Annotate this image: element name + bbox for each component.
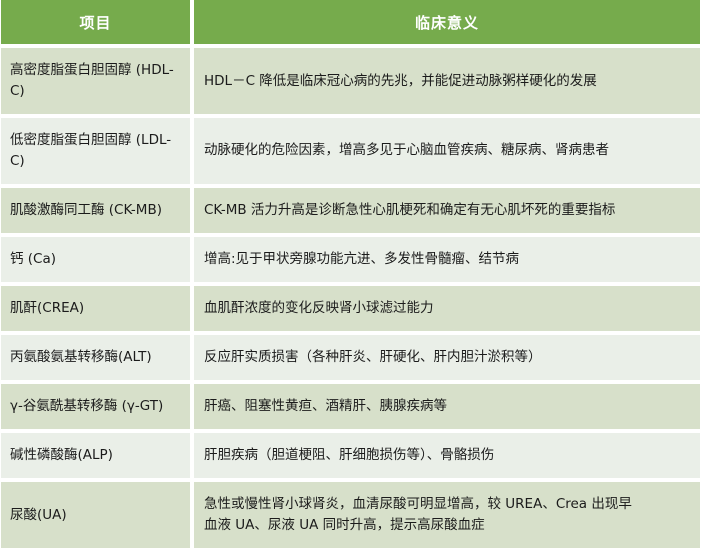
cell-meaning: CK-MB 活力升高是诊断急性心肌梗死和确定有无心肌坏死的重要指标 (194, 188, 700, 233)
cell-item-text: γ-谷氨酰基转移酶 (γ-GT) (10, 396, 163, 417)
table-row: 低密度脂蛋白胆固醇 (LDL-C) 动脉硬化的危险因素，增高多见于心脑血管疾病、… (0, 118, 702, 184)
cell-item-text: 肌酐(CREA) (10, 298, 84, 319)
cell-item-text: 钙 (Ca) (10, 249, 56, 270)
cell-meaning: 反应肝实质损害（各种肝炎、肝硬化、肝内胆汁淤积等） (194, 335, 700, 380)
cell-meaning-text: 增高:见于甲状旁腺功能亢进、多发性骨髓瘤、结节病 (204, 249, 519, 270)
cell-item: 尿酸(UA) (1, 482, 190, 548)
column-header-meaning: 临床意义 (194, 0, 700, 44)
cell-item: 肌酐(CREA) (1, 286, 190, 331)
table-row: 丙氨酸氨基转移酶(ALT) 反应肝实质损害（各种肝炎、肝硬化、肝内胆汁淤积等） (0, 335, 702, 380)
cell-meaning: 血肌酐浓度的变化反映肾小球滤过能力 (194, 286, 700, 331)
cell-meaning-text: 反应肝实质损害（各种肝炎、肝硬化、肝内胆汁淤积等） (204, 347, 542, 368)
cell-meaning: 动脉硬化的危险因素，增高多见于心脑血管疾病、糖尿病、肾病患者 (194, 118, 700, 184)
cell-meaning: 急性或慢性肾小球肾炎，血清尿酸可明显增高，较 UREA、Crea 出现早 血液 … (194, 482, 700, 548)
cell-meaning-text: 肝胆疾病（胆道梗阻、肝细胞损伤等）、骨骼损伤 (204, 445, 494, 466)
cell-meaning-text: 血肌酐浓度的变化反映肾小球滤过能力 (204, 298, 434, 319)
cell-item-text: 肌酸激酶同工酶 (CK-MB) (10, 200, 162, 221)
table-header-row: 项目 临床意义 (0, 0, 702, 44)
cell-item: 碱性磷酸酶(ALP) (1, 433, 190, 478)
cell-meaning-text: 动脉硬化的危险因素，增高多见于心脑血管疾病、糖尿病、肾病患者 (204, 140, 609, 161)
table-row: 碱性磷酸酶(ALP) 肝胆疾病（胆道梗阻、肝细胞损伤等）、骨骼损伤 (0, 433, 702, 478)
cell-item: 钙 (Ca) (1, 237, 190, 282)
cell-meaning: 肝癌、阻塞性黄疸、酒精肝、胰腺疾病等 (194, 384, 700, 429)
table-row: 钙 (Ca) 增高:见于甲状旁腺功能亢进、多发性骨髓瘤、结节病 (0, 237, 702, 282)
cell-meaning-text: 肝癌、阻塞性黄疸、酒精肝、胰腺疾病等 (204, 396, 447, 417)
table-row: 肌酸激酶同工酶 (CK-MB) CK-MB 活力升高是诊断急性心肌梗死和确定有无… (0, 188, 702, 233)
cell-item: 丙氨酸氨基转移酶(ALT) (1, 335, 190, 380)
cell-item: 高密度脂蛋白胆固醇 (HDL-C) (1, 48, 190, 114)
cell-item-text: 低密度脂蛋白胆固醇 (LDL-C) (10, 130, 182, 172)
clinical-indicator-table: 项目 临床意义 高密度脂蛋白胆固醇 (HDL-C) HDL－C 降低是临床冠心病… (0, 0, 702, 548)
cell-item-text: 碱性磷酸酶(ALP) (10, 445, 113, 466)
table-row: γ-谷氨酰基转移酶 (γ-GT) 肝癌、阻塞性黄疸、酒精肝、胰腺疾病等 (0, 384, 702, 429)
cell-item: 低密度脂蛋白胆固醇 (LDL-C) (1, 118, 190, 184)
cell-item-text: 丙氨酸氨基转移酶(ALT) (10, 347, 152, 368)
cell-item: 肌酸激酶同工酶 (CK-MB) (1, 188, 190, 233)
cell-meaning: 增高:见于甲状旁腺功能亢进、多发性骨髓瘤、结节病 (194, 237, 700, 282)
cell-item-text: 尿酸(UA) (10, 505, 67, 526)
cell-meaning: 肝胆疾病（胆道梗阻、肝细胞损伤等）、骨骼损伤 (194, 433, 700, 478)
table-row: 高密度脂蛋白胆固醇 (HDL-C) HDL－C 降低是临床冠心病的先兆，并能促进… (0, 48, 702, 114)
table-row: 尿酸(UA) 急性或慢性肾小球肾炎，血清尿酸可明显增高，较 UREA、Crea … (0, 482, 702, 548)
cell-item-text: 高密度脂蛋白胆固醇 (HDL-C) (10, 60, 182, 102)
table-row: 肌酐(CREA) 血肌酐浓度的变化反映肾小球滤过能力 (0, 286, 702, 331)
cell-meaning: HDL－C 降低是临床冠心病的先兆，并能促进动脉粥样硬化的发展 (194, 48, 700, 114)
column-header-item: 项目 (1, 0, 190, 44)
cell-meaning-text: 急性或慢性肾小球肾炎，血清尿酸可明显增高，较 UREA、Crea 出现早 血液 … (204, 494, 632, 536)
cell-item: γ-谷氨酰基转移酶 (γ-GT) (1, 384, 190, 429)
cell-meaning-text: CK-MB 活力升高是诊断急性心肌梗死和确定有无心肌坏死的重要指标 (204, 200, 615, 221)
cell-meaning-text: HDL－C 降低是临床冠心病的先兆，并能促进动脉粥样硬化的发展 (204, 71, 597, 92)
